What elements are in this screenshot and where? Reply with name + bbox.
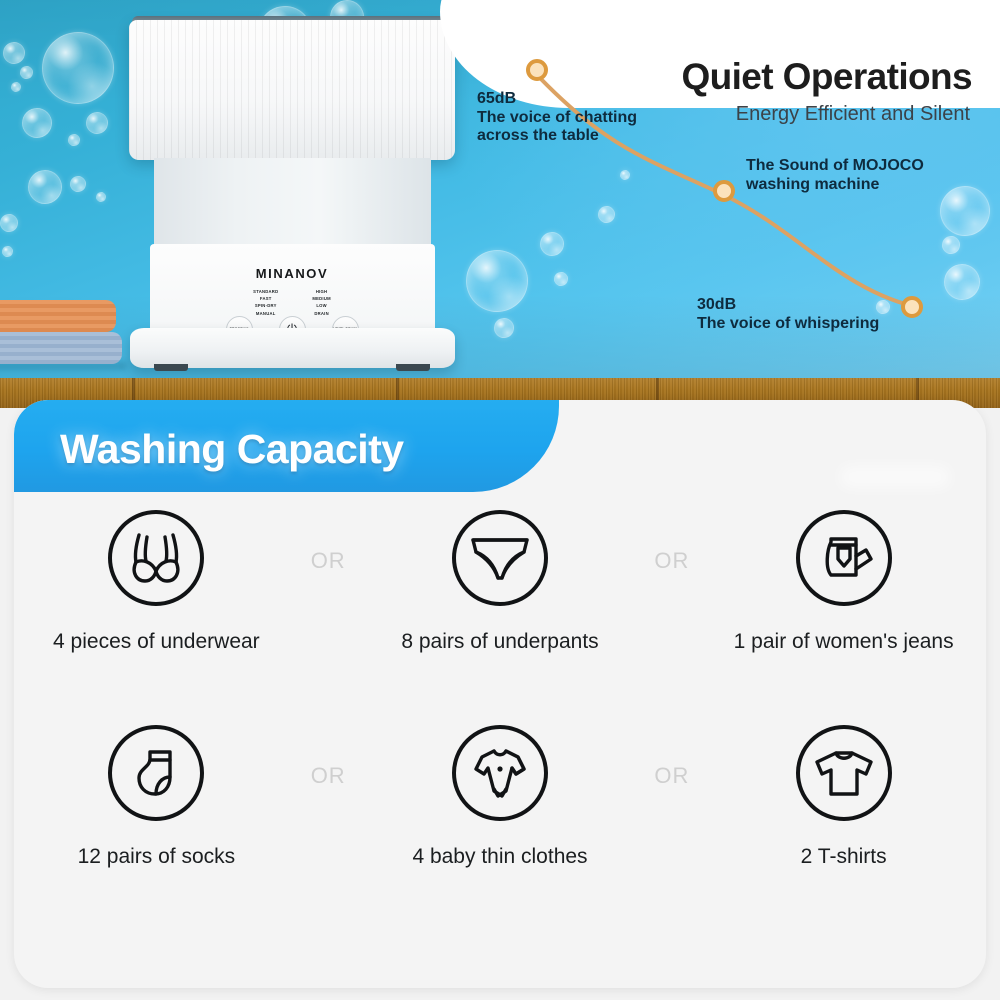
jeans-icon [796,510,892,606]
capacity-caption: 4 baby thin clothes [412,845,587,869]
bra-icon [108,510,204,606]
capacity-caption: 2 T-shirts [801,845,887,869]
or-separator: OR [642,510,701,574]
capacity-item: 1 pair of women's jeans [701,510,986,654]
capacity-caption: 1 pair of women's jeans [734,630,954,654]
capacity-caption: 8 pairs of underpants [401,630,598,654]
capacity-item: 8 pairs of underpants [358,510,643,654]
or-separator: OR [299,725,358,789]
hero-section: MINANOV STANDARD FAST SPIN-DRY MANUAL HI… [0,0,1000,378]
callout-65db-line1: The voice of chatting [477,109,637,128]
callout-30db-line1: The voice of whispering [697,315,879,334]
capacity-item: 4 pieces of underwear [14,510,299,654]
or-separator: OR [642,725,701,789]
callout-65db: 65dB The voice of chatting across the ta… [477,90,637,146]
callout-30db-value: 30dB [697,296,879,315]
capacity-caption: 12 pairs of socks [78,845,236,869]
callout-mojoco: The Sound of MOJOCO washing machine [746,157,924,194]
capacity-row: 12 pairs of socks OR 4 baby thin clothes [14,725,986,940]
callout-mojoco-line2: washing machine [746,176,924,195]
sock-icon [108,725,204,821]
callout-mojoco-line1: The Sound of MOJOCO [746,157,924,176]
baby-romper-icon [452,725,548,821]
or-separator: OR [299,510,358,574]
capacity-item: 12 pairs of socks [14,725,299,869]
tshirt-icon [796,725,892,821]
curve-dot-30db [901,296,923,318]
callout-65db-value: 65dB [477,90,637,109]
washing-capacity-card: Washing Capacity [14,400,986,988]
capacity-caption: 4 pieces of underwear [53,630,260,654]
capacity-grid: 4 pieces of underwear OR 8 pairs of unde… [14,510,986,940]
capacity-item: 2 T-shirts [701,725,986,869]
capacity-row: 4 pieces of underwear OR 8 pairs of unde… [14,510,986,725]
capacity-item: 4 baby thin clothes [358,725,643,869]
capacity-title: Washing Capacity [60,426,404,473]
underpants-icon [452,510,548,606]
curve-dot-mojoco [713,180,735,202]
callout-65db-line2: across the table [477,127,637,146]
callout-30db: 30dB The voice of whispering [697,296,879,333]
infographic-page: MINANOV STANDARD FAST SPIN-DRY MANUAL HI… [0,0,1000,1000]
curve-dot-65db [526,59,548,81]
card-highlight [840,466,950,488]
